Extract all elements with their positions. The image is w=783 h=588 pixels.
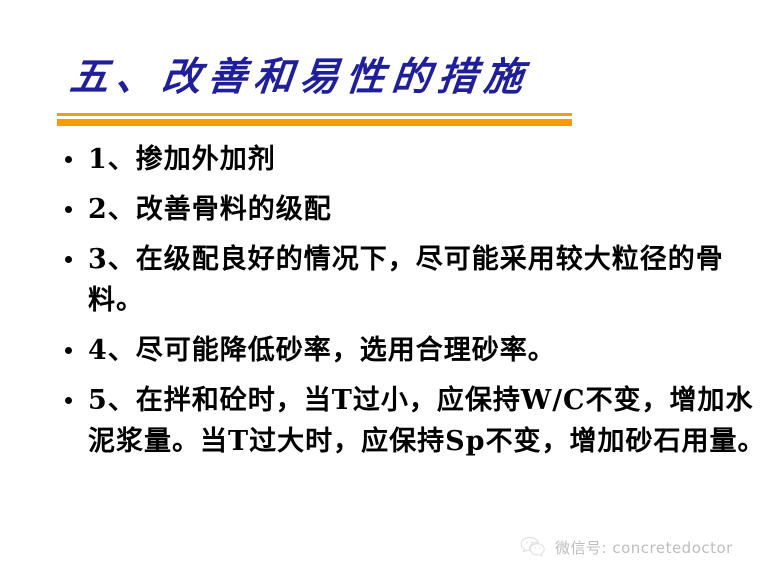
bullet-dot-icon [65,347,72,354]
title-rule-thick [57,119,572,126]
list-item: 2、改善骨料的级配 [58,189,778,230]
title-rule-thin [57,113,572,116]
list-item: 3、在级配良好的情况下，尽可能采用较大粒径的骨料。 [58,239,778,321]
bullet-dot-icon [65,156,72,163]
bullet-dot-icon [65,397,72,404]
page-title: 五、改善和易性的措施 [67,52,532,102]
list-item-label: 2、改善骨料的级配 [88,189,778,230]
footer-watermark: 微信号: concretedoctor [520,536,733,558]
list-item: 4、尽可能降低砂率，选用合理砂率。 [58,330,778,371]
watermark-text: 微信号: concretedoctor [555,537,733,558]
slide-canvas: 五、改善和易性的措施 1、掺加外加剂 2、改善骨料的级配 3、在级配良好的情况下… [0,0,783,588]
bullet-list: 1、掺加外加剂 2、改善骨料的级配 3、在级配良好的情况下，尽可能采用较大粒径的… [58,139,778,471]
list-item-label: 1、掺加外加剂 [88,139,778,180]
list-item: 1、掺加外加剂 [58,139,778,180]
wechat-icon [520,536,546,558]
bullet-dot-icon [65,256,72,263]
list-item: 5、在拌和砼时，当T过小，应保持W/C不变，增加水泥浆量。当T过大时，应保持Sp… [58,380,778,462]
bullet-dot-icon [65,206,72,213]
list-item-label: 3、在级配良好的情况下，尽可能采用较大粒径的骨料。 [88,239,778,321]
list-item-label: 4、尽可能降低砂率，选用合理砂率。 [88,330,778,371]
list-item-label: 5、在拌和砼时，当T过小，应保持W/C不变，增加水泥浆量。当T过大时，应保持Sp… [88,380,778,462]
